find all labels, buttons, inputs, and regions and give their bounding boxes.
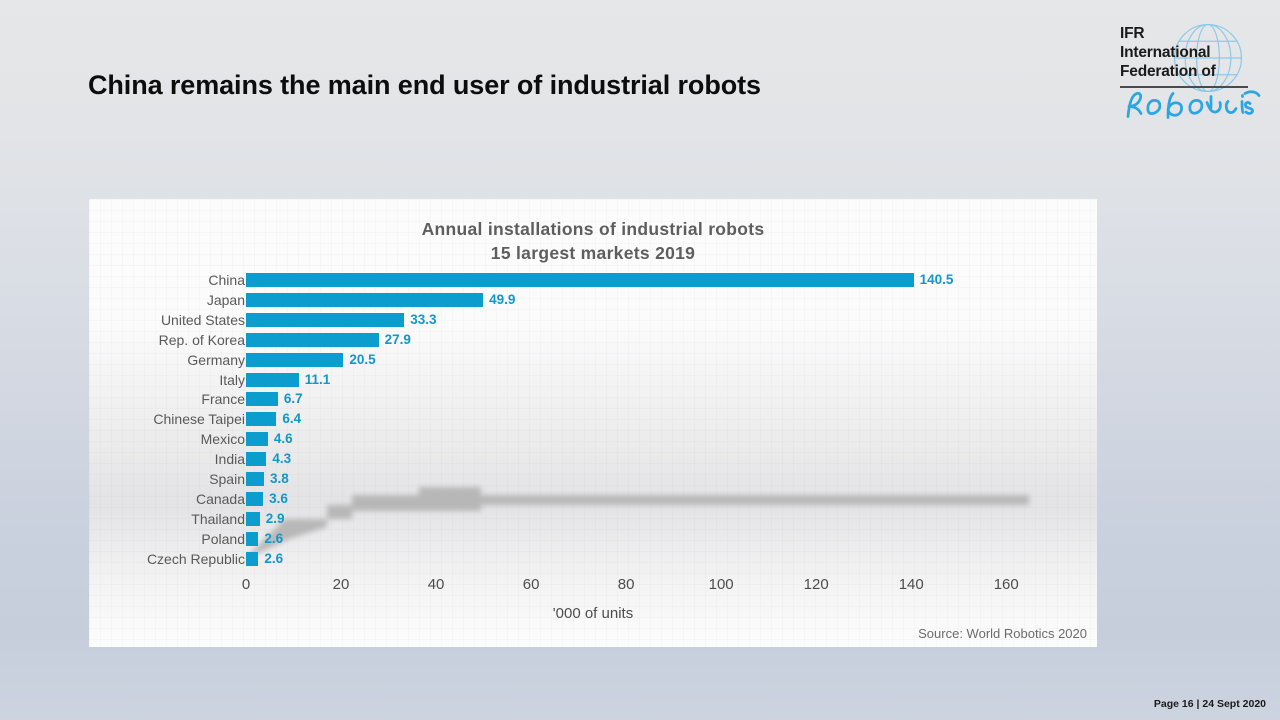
- bar-value-label: 11.1: [305, 373, 331, 387]
- bar-value-label: 6.7: [284, 392, 303, 406]
- category-label: Canada: [95, 491, 245, 507]
- bar: [246, 512, 260, 526]
- bar-value-label: 2.6: [264, 532, 283, 546]
- bar-value-label: 49.9: [489, 293, 515, 307]
- category-label: Japan: [95, 292, 245, 308]
- bar-value-label: 3.6: [269, 492, 288, 506]
- bar-value-label: 3.8: [270, 472, 289, 486]
- category-label: Mexico: [95, 431, 245, 447]
- category-label: India: [95, 451, 245, 467]
- x-axis-tick-label: 0: [216, 576, 276, 593]
- category-label: Italy: [95, 372, 245, 388]
- bar: [246, 373, 299, 387]
- bar-value-label: 33.3: [410, 313, 436, 327]
- bar: [246, 313, 404, 327]
- bar-value-label: 6.4: [282, 412, 301, 426]
- slide: China remains the main end user of indus…: [0, 0, 1280, 720]
- logo-line-3: Federation of: [1120, 62, 1216, 81]
- category-label: Spain: [95, 471, 245, 487]
- bar: [246, 333, 379, 347]
- slide-footer: Page 16 | 24 Sept 2020: [1154, 698, 1266, 710]
- category-label: China: [95, 272, 245, 288]
- x-axis-title: '000 of units: [89, 605, 1097, 622]
- bar-value-label: 2.9: [266, 512, 285, 526]
- x-axis-tick-label: 120: [786, 576, 846, 593]
- bar-value-label: 140.5: [920, 273, 954, 287]
- bar: [246, 532, 258, 546]
- category-label: Czech Republic: [95, 551, 245, 567]
- bar: [246, 492, 263, 506]
- x-axis-tick-label: 80: [596, 576, 656, 593]
- bar-value-label: 4.6: [274, 432, 293, 446]
- x-axis-tick-label: 140: [881, 576, 941, 593]
- ifr-logo: IFR International Federation of: [1118, 18, 1270, 122]
- bar: [246, 273, 914, 287]
- x-axis-tick-label: 160: [976, 576, 1036, 593]
- bar-value-label: 4.3: [272, 452, 291, 466]
- bar: [246, 452, 266, 466]
- logo-line-2: International: [1120, 43, 1216, 62]
- bar: [246, 293, 483, 307]
- x-axis-tick-label: 60: [501, 576, 561, 593]
- bar: [246, 412, 276, 426]
- robotics-script-icon: [1122, 88, 1262, 122]
- page-title: China remains the main end user of indus…: [88, 70, 761, 101]
- ifr-logo-text: IFR International Federation of: [1120, 24, 1216, 81]
- logo-line-1: IFR: [1120, 24, 1216, 43]
- bar: [246, 552, 258, 566]
- category-label: Poland: [95, 531, 245, 547]
- category-label: Rep. of Korea: [95, 332, 245, 348]
- bar-value-label: 27.9: [385, 333, 411, 347]
- chart-source: Source: World Robotics 2020: [918, 626, 1087, 641]
- category-label: Thailand: [95, 511, 245, 527]
- bar-value-label: 2.6: [264, 552, 283, 566]
- x-axis-tick-label: 40: [406, 576, 466, 593]
- x-axis-tick-label: 100: [691, 576, 751, 593]
- bar: [246, 472, 264, 486]
- bar: [246, 432, 268, 446]
- chart-panel: Annual installations of industrial robot…: [89, 199, 1097, 647]
- bar-value-label: 20.5: [349, 353, 375, 367]
- category-label: France: [95, 391, 245, 407]
- category-label: Chinese Taipei: [95, 411, 245, 427]
- bar: [246, 392, 278, 406]
- bar: [246, 353, 343, 367]
- category-label: Germany: [95, 352, 245, 368]
- x-axis-tick-label: 20: [311, 576, 371, 593]
- category-label: United States: [95, 312, 245, 328]
